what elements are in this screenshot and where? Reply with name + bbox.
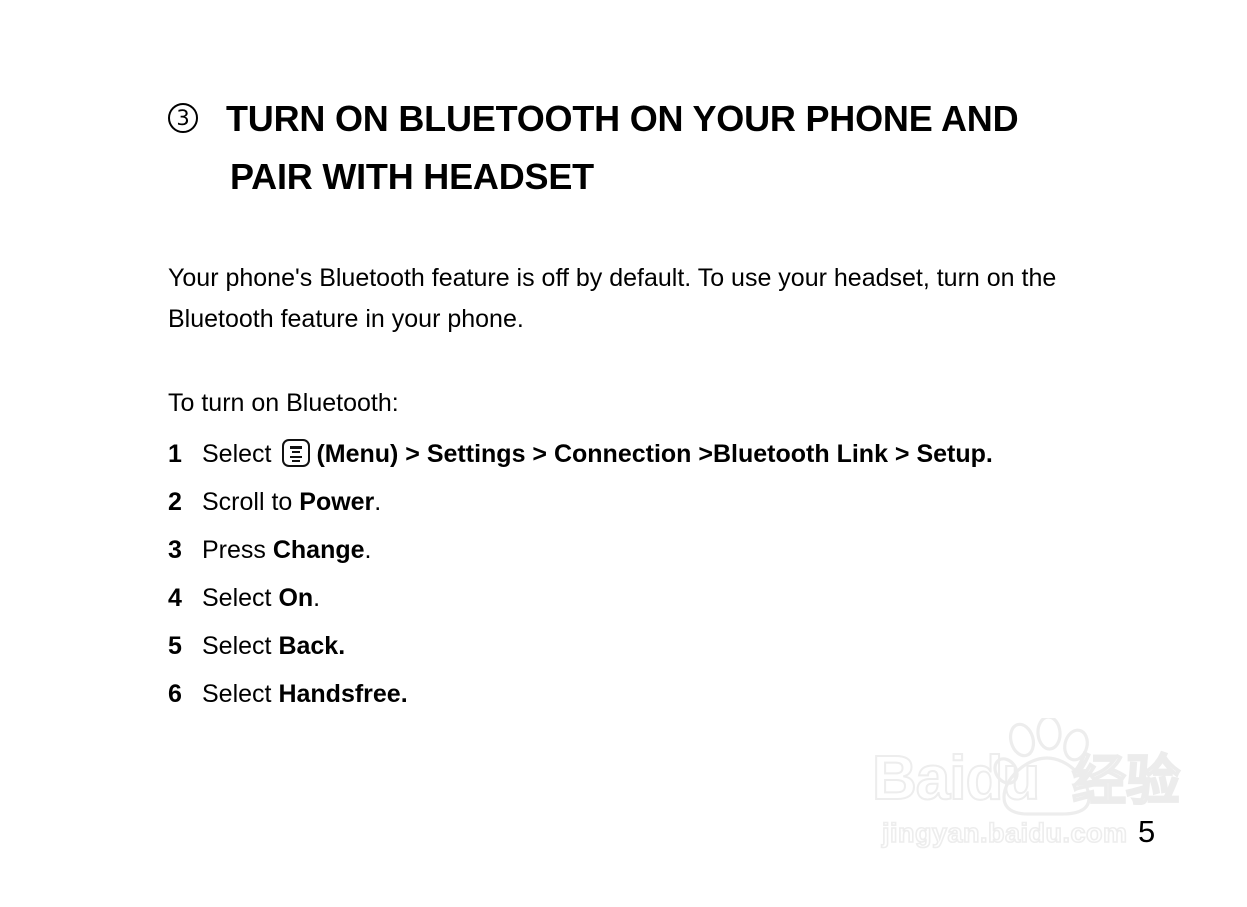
step-4-pre-text: Select <box>202 584 278 612</box>
step-number-2: 2 <box>168 478 202 526</box>
step-item-4: 4 Select On. <box>168 574 1168 622</box>
step-1-pre-text: Select <box>202 440 271 468</box>
page-number: 5 <box>1138 812 1155 852</box>
baidu-watermark: Baidu 经验 jingyan.baidu.com <box>872 718 1182 863</box>
step-6-bold-text: Handsfree. <box>278 680 407 708</box>
step-text-2: Scroll to Power. <box>202 478 381 526</box>
step-5-pre-text: Select <box>202 632 278 660</box>
baidu-paw-logo-icon <box>992 718 1102 818</box>
step-item-1: 1 Select (Menu) > Settings > Connection … <box>168 430 1168 478</box>
menu-icon <box>282 439 310 467</box>
step-text-4: Select On. <box>202 574 320 622</box>
step-item-6: 6 Select Handsfree. <box>168 670 1168 718</box>
step-number-5: 5 <box>168 622 202 670</box>
step-number-6: 6 <box>168 670 202 718</box>
step-3-bold-text: Change <box>273 536 365 564</box>
steps-list: 1 Select (Menu) > Settings > Connection … <box>168 430 1168 718</box>
heading-line-1: 3 TURN ON BLUETOOTH ON YOUR PHONE AND <box>168 90 1128 148</box>
step-item-2: 2 Scroll to Power. <box>168 478 1168 526</box>
step-item-3: 3 Press Change. <box>168 526 1168 574</box>
step-number-1: 1 <box>168 430 202 478</box>
step-3-pre-text: Press <box>202 536 273 564</box>
step-1-bold-text: (Menu) > Settings > Connection >Bluetoot… <box>316 440 992 468</box>
heading-title-line-1: TURN ON BLUETOOTH ON YOUR PHONE AND <box>226 90 1018 148</box>
baidu-watermark-url: jingyan.baidu.com <box>882 818 1128 848</box>
step-2-bold-text: Power <box>299 488 374 516</box>
step-5-bold-text: Back. <box>278 632 345 660</box>
intro-paragraph: Your phone's Bluetooth feature is off by… <box>168 258 1143 340</box>
document-page: 3 TURN ON BLUETOOTH ON YOUR PHONE AND PA… <box>0 0 1247 907</box>
page-heading: 3 TURN ON BLUETOOTH ON YOUR PHONE AND PA… <box>168 90 1128 206</box>
step-2-pre-text: Scroll to <box>202 488 299 516</box>
step-number-3: 3 <box>168 526 202 574</box>
step-text-5: Select Back. <box>202 622 345 670</box>
step-6-pre-text: Select <box>202 680 278 708</box>
heading-title-line-2: PAIR WITH HEADSET <box>230 148 1128 206</box>
steps-intro-label: To turn on Bluetooth: <box>168 386 399 420</box>
step-item-5: 5 Select Back. <box>168 622 1168 670</box>
step-2-post-text: . <box>374 488 381 516</box>
step-number-4: 4 <box>168 574 202 622</box>
step-text-1: Select (Menu) > Settings > Connection >B… <box>202 430 993 478</box>
step-4-post-text: . <box>313 584 320 612</box>
step-3-post-text: . <box>365 536 372 564</box>
circled-number-three-icon: 3 <box>168 103 198 133</box>
baidu-wordmark: Baidu <box>872 748 1039 810</box>
step-4-bold-text: On <box>278 584 313 612</box>
step-text-6: Select Handsfree. <box>202 670 408 718</box>
baidu-chinese-wordmark: 经验 <box>1072 754 1180 808</box>
step-text-3: Press Change. <box>202 526 372 574</box>
